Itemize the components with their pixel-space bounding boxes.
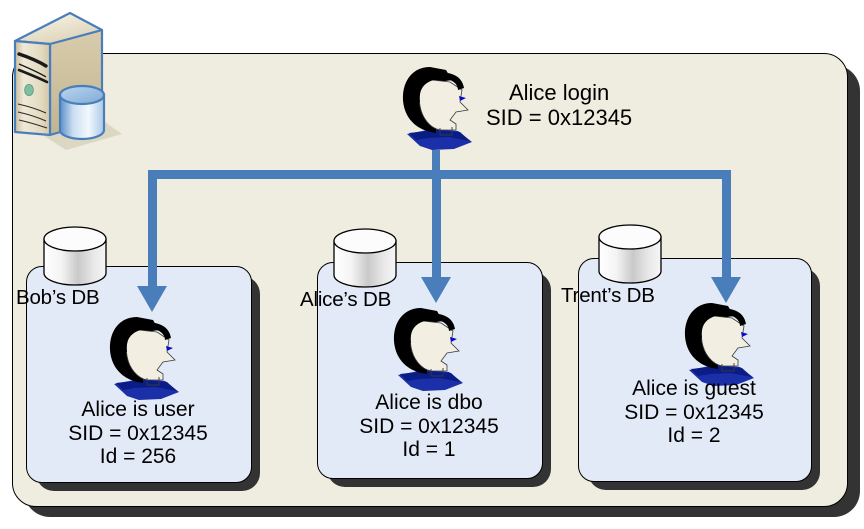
bob-db-person-alice-icon bbox=[103, 312, 189, 405]
bob-db-caption: Alice is user SID = 0x12345 Id = 256 bbox=[26, 398, 250, 469]
alice-db-caption-line-1: Alice is dbo bbox=[317, 391, 541, 415]
diagram-canvas: Bob’s DB Alice is user SID = 0x12345 Id … bbox=[0, 0, 864, 529]
bob-db-disk-cylinder-icon bbox=[40, 226, 110, 293]
trent-db-label: Trent’s DB bbox=[561, 284, 655, 308]
alice-db-caption-line-2: SID = 0x12345 bbox=[317, 415, 541, 439]
bob-db-caption-line-1: Alice is user bbox=[26, 398, 250, 422]
login-caption: Alice login SID = 0x12345 bbox=[486, 80, 632, 131]
trent-db-caption-line-1: Alice is guest bbox=[578, 377, 810, 401]
trent-db-caption: Alice is guest SID = 0x12345 Id = 2 bbox=[578, 377, 810, 448]
trent-db-caption-line-2: SID = 0x12345 bbox=[578, 401, 810, 425]
bob-db-label: Bob’s DB bbox=[16, 286, 99, 310]
alice-db-caption: Alice is dbo SID = 0x12345 Id = 1 bbox=[317, 391, 541, 462]
alice-db-disk-cylinder-icon bbox=[330, 228, 400, 295]
trent-db-disk-cylinder-icon bbox=[595, 224, 665, 291]
login-person-alice-icon bbox=[396, 62, 482, 159]
login-caption-line-2: SID = 0x12345 bbox=[486, 105, 632, 130]
down-arrow-icon-left bbox=[137, 286, 167, 312]
alice-db-caption-line-3: Id = 1 bbox=[317, 438, 541, 462]
login-caption-line-1: Alice login bbox=[486, 80, 632, 105]
alice-db-person-alice-icon bbox=[387, 303, 473, 396]
connector-branch-left bbox=[148, 170, 157, 287]
bob-db-caption-line-2: SID = 0x12345 bbox=[26, 422, 250, 446]
connector-branch-middle bbox=[432, 170, 441, 278]
server-tower-icon bbox=[2, 8, 144, 183]
trent-db-caption-line-3: Id = 2 bbox=[578, 424, 810, 448]
alice-db-label: Alice’s DB bbox=[300, 288, 391, 312]
connector-branch-right bbox=[722, 170, 731, 278]
down-arrow-icon-middle bbox=[421, 277, 451, 303]
bob-db-caption-line-3: Id = 256 bbox=[26, 445, 250, 469]
